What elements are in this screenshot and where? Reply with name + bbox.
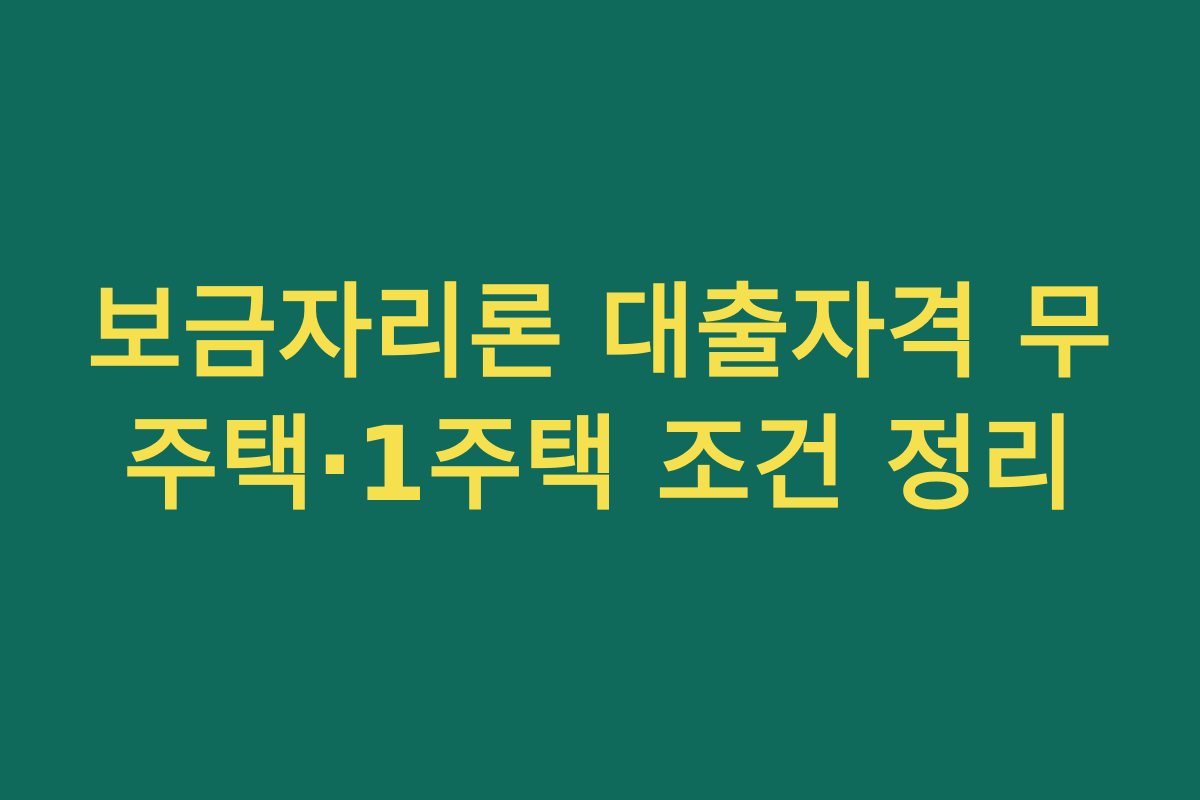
title-line-2: 주택·1주택 조건 정리 [70,400,1130,532]
title-line-1: 보금자리론 대출자격 무 [70,268,1130,400]
page-title: 보금자리론 대출자격 무 주택·1주택 조건 정리 [70,268,1130,532]
thumbnail-card: 보금자리론 대출자격 무 주택·1주택 조건 정리 [0,0,1200,800]
